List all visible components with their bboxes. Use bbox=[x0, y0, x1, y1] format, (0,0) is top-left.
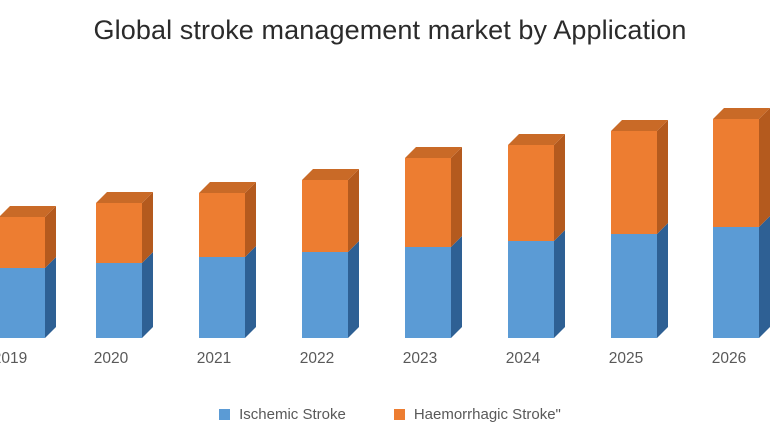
bar-group-2025[interactable] bbox=[611, 120, 668, 338]
bar-group-2024[interactable] bbox=[508, 134, 565, 338]
x-tick-label-2022: 2022 bbox=[300, 350, 334, 368]
plot-area bbox=[0, 0, 780, 390]
bar-2020-ischemic-front bbox=[96, 263, 142, 338]
bar-2023-haemorrhagic-side bbox=[451, 147, 462, 247]
bar-group-2020[interactable] bbox=[96, 192, 153, 338]
bar-2021-haemorrhagic-front bbox=[199, 193, 245, 257]
bar-2023-ischemic-front bbox=[405, 247, 451, 338]
bar-2026-haemorrhagic-front bbox=[713, 119, 759, 227]
bar-2021-haemorrhagic-side bbox=[245, 182, 256, 257]
x-tick-label-2025: 2025 bbox=[609, 350, 643, 368]
chart-legend: Ischemic StrokeHaemorrhagic Stroke" bbox=[0, 402, 780, 426]
bar-2023-haemorrhagic-front bbox=[405, 158, 451, 247]
bar-group-2019[interactable] bbox=[0, 206, 56, 338]
x-tick-label-2020: 2020 bbox=[94, 350, 128, 368]
bar-2019-ischemic-front bbox=[0, 268, 45, 338]
bar-2019-haemorrhagic-front bbox=[0, 217, 45, 268]
bar-group-2021[interactable] bbox=[199, 182, 256, 338]
bar-2024-haemorrhagic-side bbox=[554, 134, 565, 241]
chart-container: Global stroke management market by Appli… bbox=[0, 0, 780, 440]
legend-item-2[interactable]: Haemorrhagic Stroke" bbox=[394, 407, 561, 422]
bar-2026-ischemic-side bbox=[759, 216, 770, 338]
bar-2023-ischemic-side bbox=[451, 236, 462, 338]
bar-2020-ischemic-side bbox=[142, 252, 153, 338]
bar-2021-ischemic-front bbox=[199, 257, 245, 338]
x-tick-label-2024: 2024 bbox=[506, 350, 540, 368]
legend-swatch-icon-1 bbox=[219, 409, 230, 420]
bar-2022-haemorrhagic-front bbox=[302, 180, 348, 252]
x-tick-label-2023: 2023 bbox=[403, 350, 437, 368]
legend-label-2: Haemorrhagic Stroke" bbox=[414, 407, 561, 422]
bar-2024-ischemic-front bbox=[508, 241, 554, 338]
x-tick-label-2026: 2026 bbox=[712, 350, 746, 368]
legend-item-1[interactable]: Ischemic Stroke bbox=[219, 407, 346, 422]
bars-svg bbox=[0, 0, 780, 390]
bar-group-2022[interactable] bbox=[302, 169, 359, 338]
bar-2025-haemorrhagic-front bbox=[611, 131, 657, 234]
x-axis: 20192020202120222023202420252026 bbox=[0, 350, 780, 376]
bar-2025-ischemic-side bbox=[657, 223, 668, 338]
x-tick-label-2021: 2021 bbox=[197, 350, 231, 368]
bar-2024-haemorrhagic-front bbox=[508, 145, 554, 241]
legend-label-1: Ischemic Stroke bbox=[239, 407, 346, 422]
bars-group bbox=[0, 108, 770, 338]
bar-2024-ischemic-side bbox=[554, 230, 565, 338]
bar-2025-haemorrhagic-side bbox=[657, 120, 668, 234]
bar-group-2023[interactable] bbox=[405, 147, 462, 338]
bar-2019-ischemic-side bbox=[45, 257, 56, 338]
bar-2022-ischemic-side bbox=[348, 241, 359, 338]
x-tick-label-2019: 2019 bbox=[0, 350, 27, 368]
bar-2022-ischemic-front bbox=[302, 252, 348, 338]
bar-2020-haemorrhagic-side bbox=[142, 192, 153, 263]
bar-2022-haemorrhagic-side bbox=[348, 169, 359, 252]
bar-2026-haemorrhagic-side bbox=[759, 108, 770, 227]
bar-group-2026[interactable] bbox=[713, 108, 770, 338]
bar-2026-ischemic-front bbox=[713, 227, 759, 338]
bar-2021-ischemic-side bbox=[245, 246, 256, 338]
bar-2020-haemorrhagic-front bbox=[96, 203, 142, 263]
legend-swatch-icon-2 bbox=[394, 409, 405, 420]
bar-2025-ischemic-front bbox=[611, 234, 657, 338]
